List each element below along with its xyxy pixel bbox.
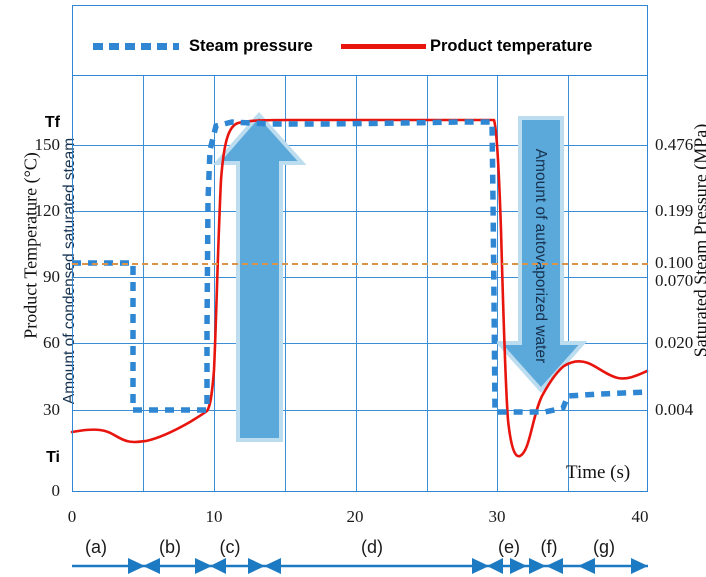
phase-marker-b-end: [195, 558, 212, 574]
legend-label-product-temperature: Product temperature: [430, 37, 592, 56]
phase-marker-a-end: [128, 558, 145, 574]
phase-marker-f-end: [546, 558, 563, 574]
phase-marker-g-start: [578, 558, 595, 574]
legend-box: Steam pressure Product temperature: [72, 5, 648, 76]
phase-marker-c-end: [248, 558, 265, 574]
phase-marker-g-end: [631, 558, 648, 574]
phase-marker-b-start: [143, 558, 160, 574]
legend-swatch-product-temperature: [341, 44, 426, 49]
legend-label-steam-pressure: Steam pressure: [189, 37, 313, 56]
phase-marker-d-start: [264, 558, 281, 574]
phase-marker-e-end: [510, 558, 527, 574]
atmospheric-pressure-reference-line: [72, 263, 648, 265]
phase-marker-f-start: [529, 558, 546, 574]
chart-root: Amount of condensed saturated steam Amou…: [0, 0, 706, 577]
legend-swatch-steam-pressure: [93, 43, 179, 50]
phase-marker-d-end: [472, 558, 489, 574]
phase-marker-e-start: [487, 558, 503, 574]
phase-marker-c-start: [210, 558, 226, 574]
phase-strip: [0, 0, 706, 577]
